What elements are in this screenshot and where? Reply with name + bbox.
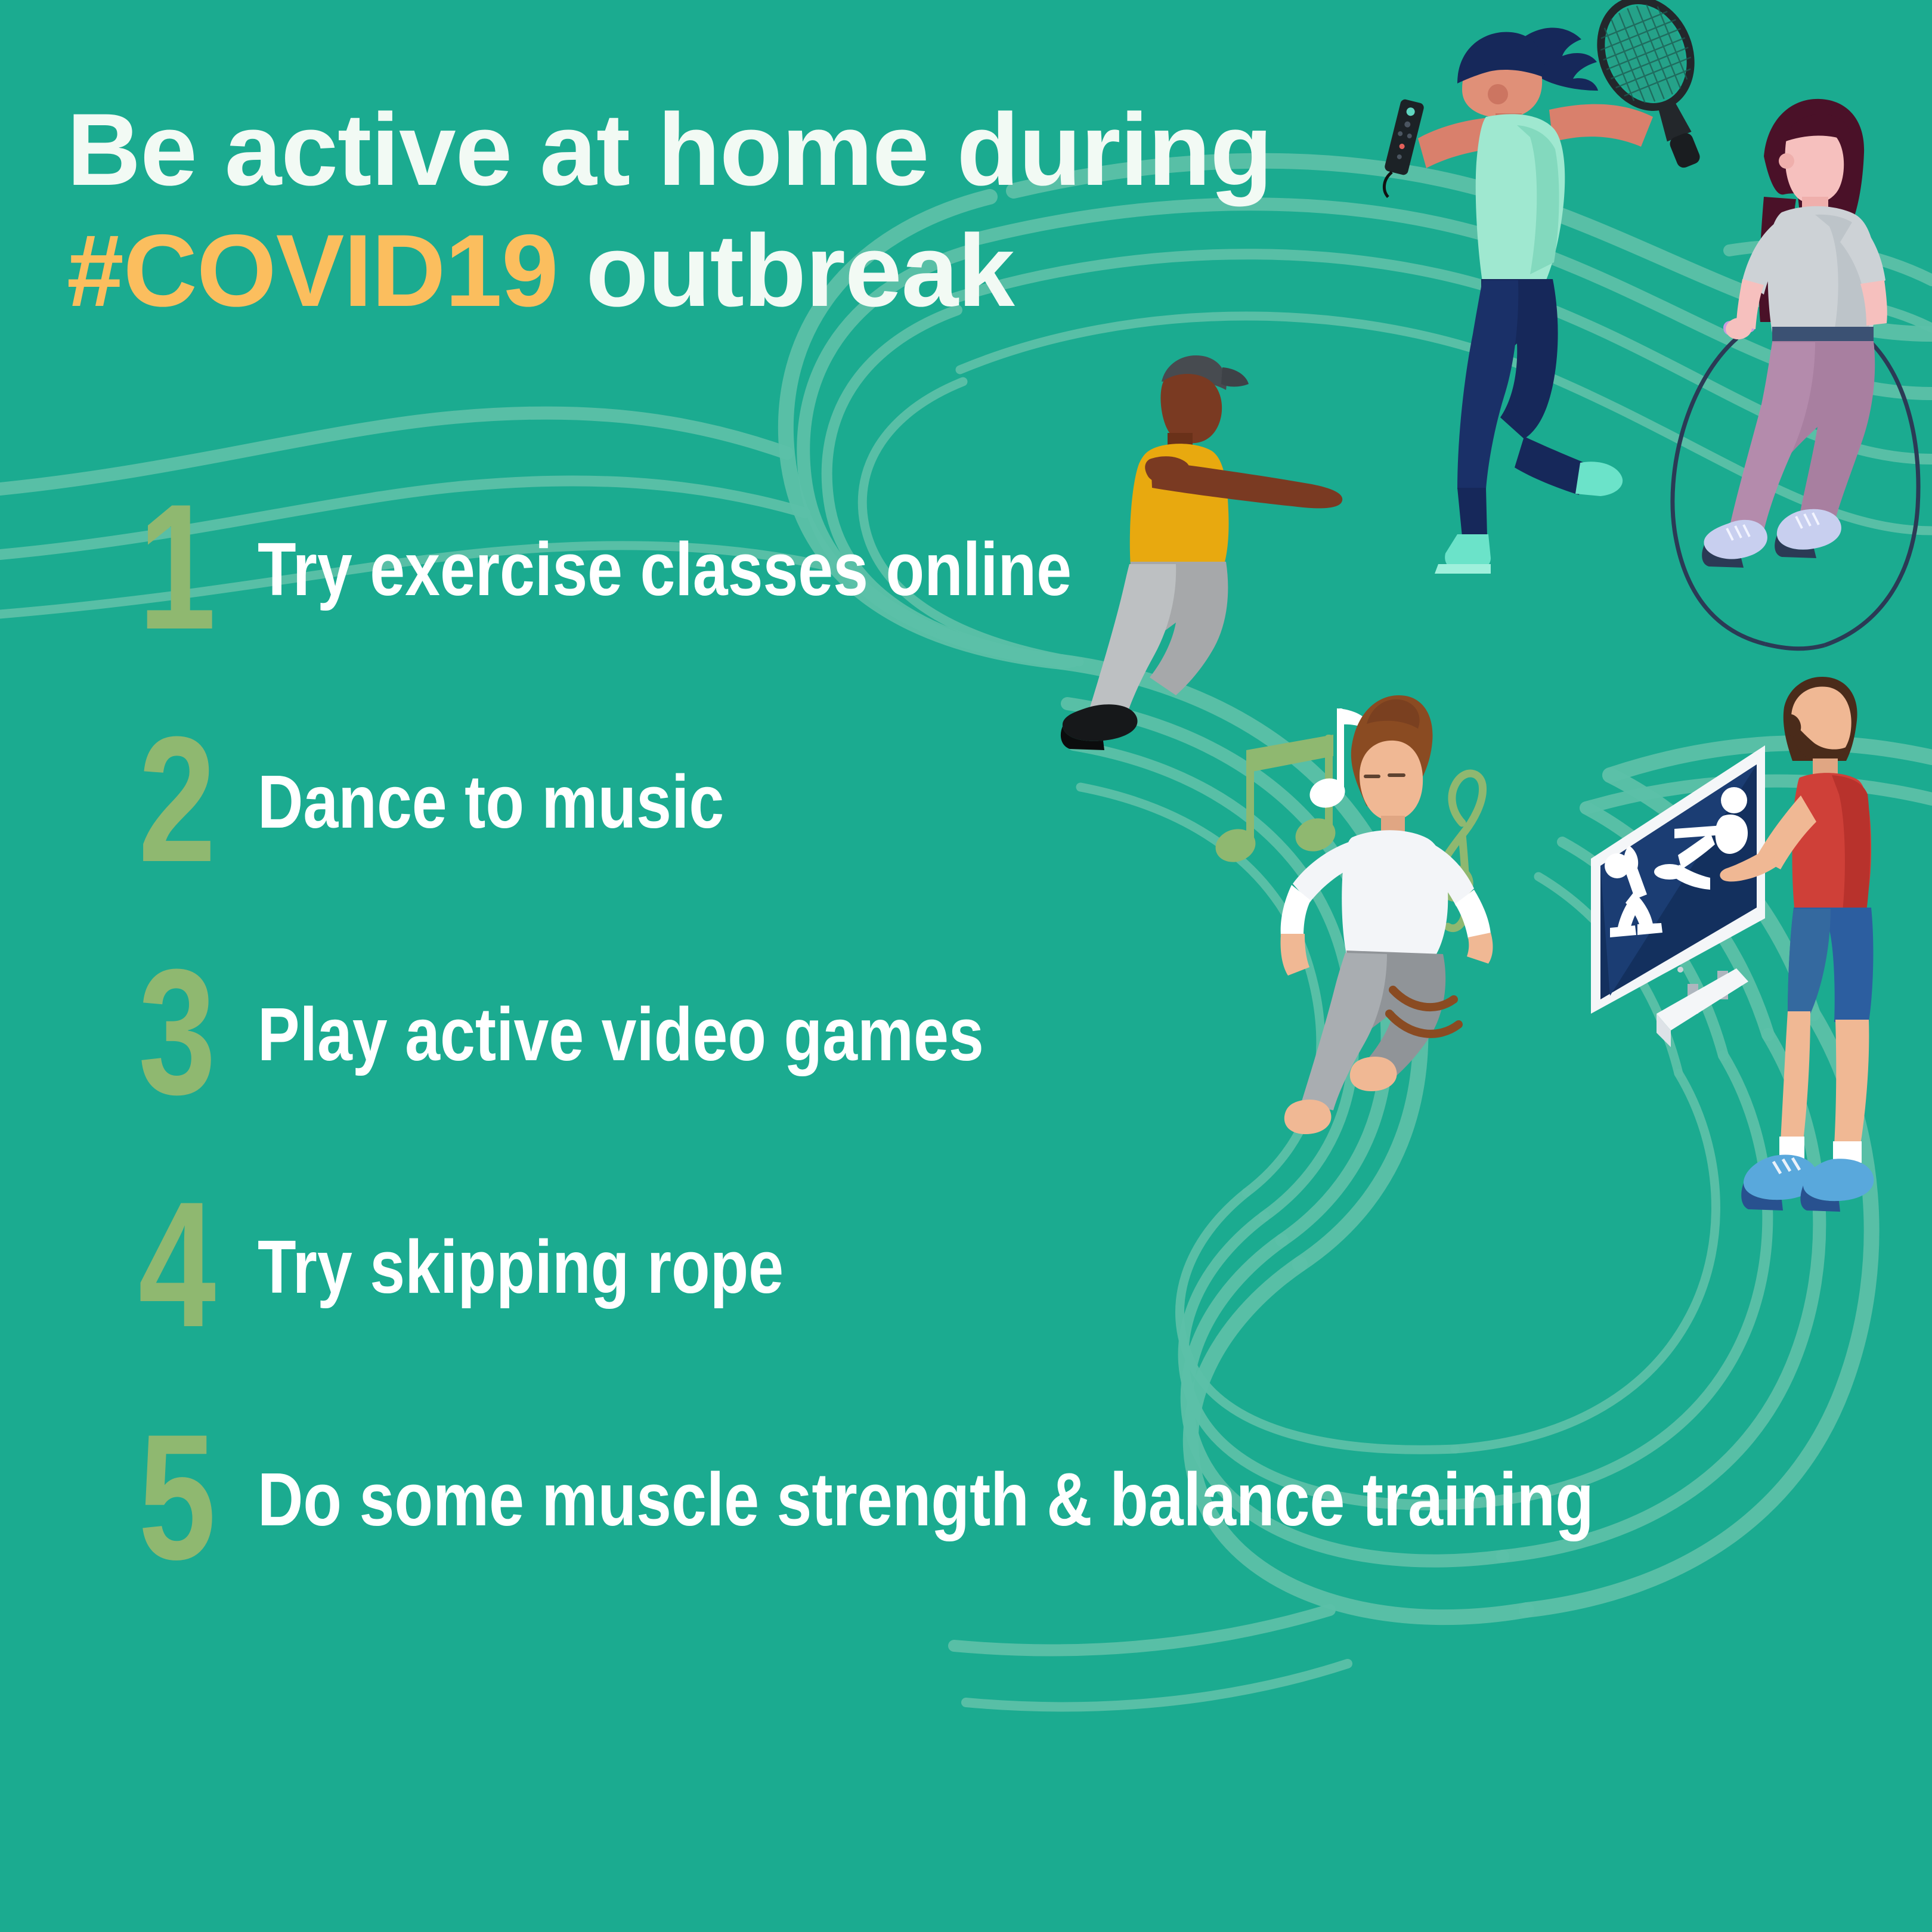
list-item: 4 Try skipping rope	[0, 1175, 1670, 1407]
tip-label: Try exercise classes online	[258, 532, 1072, 607]
tip-number: 2	[138, 710, 227, 888]
tip-label: Play active video games	[258, 997, 984, 1072]
title-line-1: Be active at home during	[67, 89, 1319, 210]
tips-list: 1 Try exercise classes online 2 Dance to…	[0, 477, 1670, 1640]
tip-number: 1	[138, 477, 227, 656]
list-item: 3 Play active video games	[0, 942, 1670, 1175]
infographic-poster: Be active at home during #COVID19 outbre…	[0, 0, 1932, 1932]
list-item: 2 Dance to music	[0, 710, 1670, 942]
page-title: Be active at home during #COVID19 outbre…	[67, 89, 1319, 332]
tip-number: 4	[138, 1175, 227, 1354]
title-line-2-rest: outbreak	[558, 213, 1014, 328]
list-item: 1 Try exercise classes online	[0, 477, 1670, 710]
tip-number: 3	[138, 942, 227, 1121]
list-item: 5 Do some muscle strength & balance trai…	[0, 1407, 1670, 1640]
title-line-2: #COVID19 outbreak	[67, 210, 1319, 332]
tip-label: Dance to music	[258, 764, 724, 840]
tip-number: 5	[138, 1407, 227, 1586]
covid-hashtag: #COVID19	[67, 213, 558, 328]
footer: World Health Organization #BeActive #Hea…	[0, 1717, 1932, 1932]
tip-label: Try skipping rope	[258, 1230, 784, 1305]
tip-label: Do some muscle strength & balance traini…	[258, 1462, 1594, 1537]
